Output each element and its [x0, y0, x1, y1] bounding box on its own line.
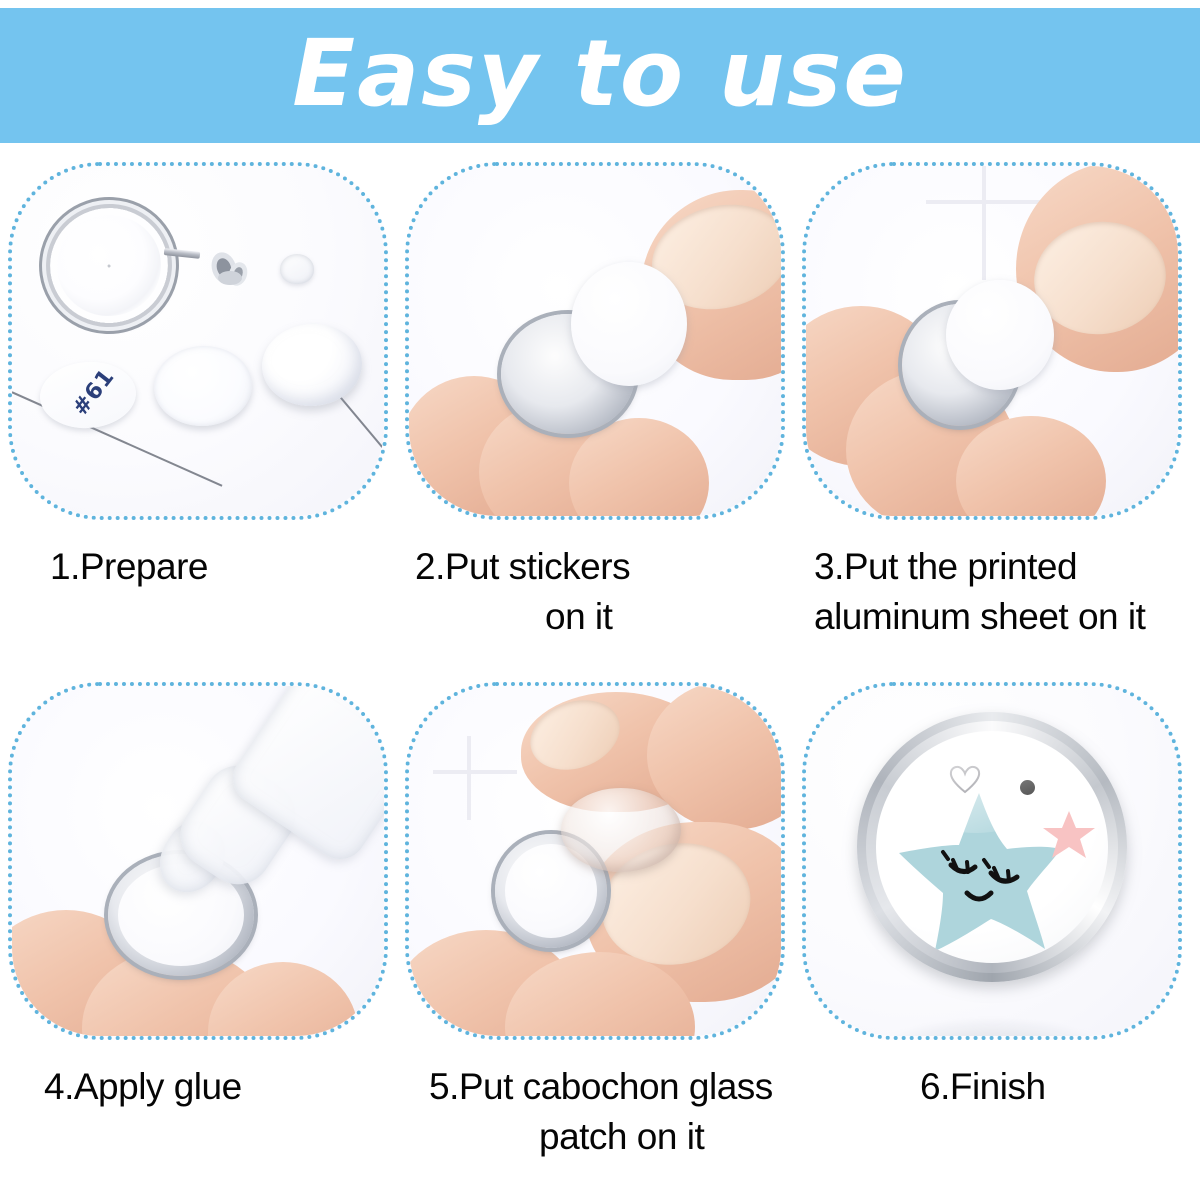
step-2-photo-panel: [405, 162, 785, 520]
black-dot-icon: [1020, 780, 1035, 795]
step-5-caption-line1: 5.Put cabochon glass: [429, 1062, 795, 1112]
put-stickers-photo: [409, 166, 781, 516]
step-3-caption-line2: aluminum sheet on it: [814, 592, 1192, 642]
earring-glass-face: [876, 731, 1108, 963]
step-2-caption-line1: 2.Put stickers: [415, 542, 795, 592]
aluminum-sheet-disc: [946, 280, 1054, 390]
step-4-caption: 4.Apply glue: [8, 1062, 398, 1112]
steps-grid: #61 1.Prepare: [0, 150, 1200, 1200]
step-6-caption-line1: 6.Finish: [920, 1062, 1192, 1112]
step-1-caption-line1: 1.Prepare: [50, 542, 398, 592]
step-6: 6.Finish: [802, 682, 1192, 1112]
white-sticker-disc: [571, 262, 687, 386]
step-3-caption: 3.Put the printed aluminum sheet on it: [802, 542, 1192, 641]
pink-star-icon: [1041, 808, 1097, 862]
step-4-photo-panel: [8, 682, 388, 1040]
put-aluminum-sheet-photo: [806, 166, 1178, 516]
apply-glue-photo: [12, 686, 384, 1036]
step-2-caption: 2.Put stickers on it: [405, 542, 795, 641]
step-4-caption-line1: 4.Apply glue: [44, 1062, 398, 1112]
step-1-caption: 1.Prepare: [8, 542, 398, 592]
step-2-caption-line2: on it: [415, 592, 795, 642]
step-5-caption: 5.Put cabochon glass patch on it: [405, 1062, 795, 1161]
butterfly-earring-back-icon: [208, 248, 252, 292]
step-2: 2.Put stickers on it: [405, 162, 795, 641]
step-5: 5.Put cabochon glass patch on it: [405, 682, 795, 1161]
step-5-photo-panel: [405, 682, 785, 1040]
step-1: #61 1.Prepare: [8, 162, 398, 592]
plastic-earring-back: [280, 254, 314, 284]
step-3: 3.Put the printed aluminum sheet on it: [802, 162, 1192, 641]
put-cabochon-glass-photo: [409, 686, 781, 1036]
prepare-components-photo: #61: [12, 166, 384, 516]
step-3-caption-line1: 3.Put the printed: [814, 542, 1192, 592]
page-title: Easy to use: [292, 28, 908, 120]
step-6-photo-panel: [802, 682, 1182, 1040]
step-5-caption-line2: patch on it: [429, 1112, 795, 1162]
finished-earring: [857, 712, 1127, 982]
infographic-page: Easy to use: [0, 0, 1200, 1200]
cabochon-glass-patch: [561, 788, 681, 872]
finished-earring-photo: [806, 686, 1178, 1036]
heart-outline-icon: [948, 763, 982, 795]
step-3-photo-panel: [802, 162, 1182, 520]
step-6-caption: 6.Finish: [802, 1062, 1192, 1112]
step-1-photo-panel: #61: [8, 162, 388, 520]
header-banner: Easy to use: [0, 8, 1200, 143]
step-4: 4.Apply glue: [8, 682, 398, 1112]
